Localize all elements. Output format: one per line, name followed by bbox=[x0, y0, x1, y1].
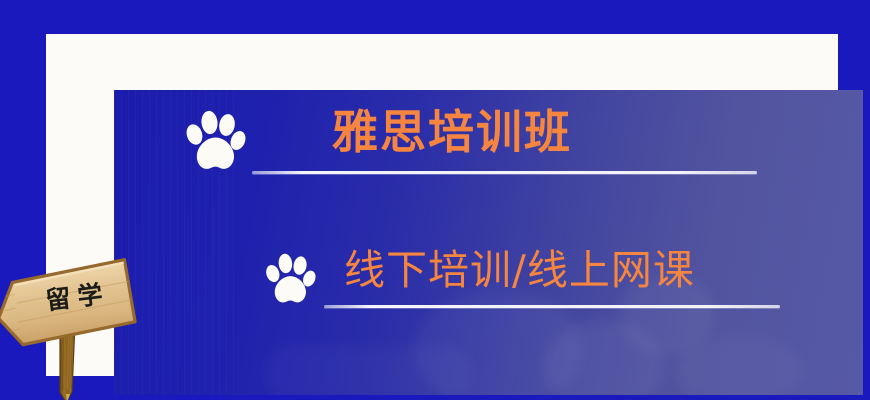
banner-panel: 雅思培训班 bbox=[114, 90, 863, 395]
title-underline bbox=[252, 171, 757, 174]
promo-banner: 雅思培训班 bbox=[0, 0, 870, 400]
background-ghost-shape bbox=[264, 345, 474, 395]
title-block: 雅思培训班 bbox=[252, 109, 757, 174]
page-title: 雅思培训班 bbox=[252, 109, 757, 155]
subtitle-block: 线下培训/线上网课 bbox=[324, 250, 780, 308]
page-subtitle: 线下培训/线上网课 bbox=[324, 250, 780, 291]
title-row: 雅思培训班 bbox=[184, 108, 757, 174]
paw-print-icon bbox=[184, 108, 246, 174]
wooden-signpost: 留学 bbox=[0, 254, 152, 400]
paw-print-icon bbox=[264, 251, 316, 307]
banner-frame: 雅思培训班 bbox=[46, 34, 838, 376]
signpost-board bbox=[0, 259, 136, 347]
subtitle-underline bbox=[324, 305, 780, 308]
subtitle-row: 线下培训/线上网课 bbox=[264, 250, 780, 308]
background-ghost-shape bbox=[674, 335, 804, 395]
